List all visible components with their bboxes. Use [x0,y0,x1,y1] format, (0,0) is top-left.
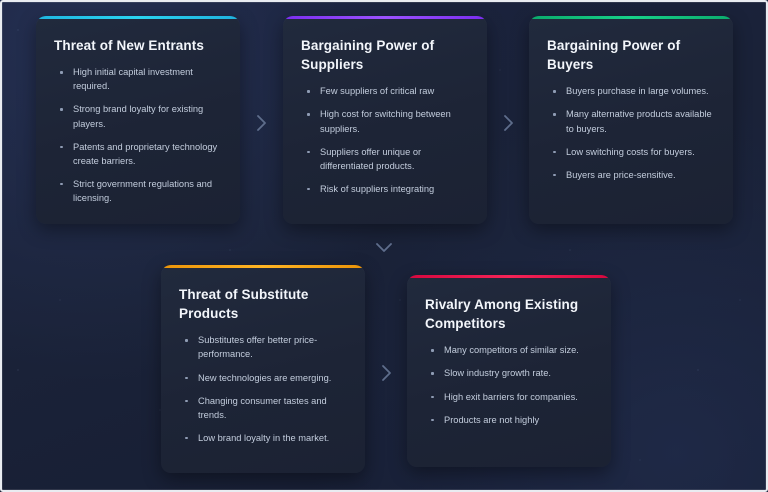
connector-suppliers-to-buyers [487,108,529,138]
list-item: Slow industry growth rate. [431,366,593,380]
list-item: Strong brand loyalty for existing player… [60,102,222,130]
diagram-canvas: Threat of New Entrants High initial capi… [0,0,768,492]
list-item: Buyers purchase in large volumes. [553,84,715,98]
card-accent-bar [161,265,365,268]
list-item: New technologies are emerging. [185,371,347,385]
card-bullet-list: High initial capital investment required… [50,65,224,205]
chevron-down-icon [374,241,394,254]
force-card-bargaining-power-of-suppliers[interactable]: Bargaining Power of Suppliers Few suppli… [283,16,487,224]
card-title: Threat of New Entrants [54,36,224,55]
card-title: Threat of Substitute Products [179,285,349,323]
list-item: Strict government regulations and licens… [60,177,222,205]
list-item: Risk of suppliers integrating [307,182,469,196]
card-accent-bar [283,16,487,19]
card-bullet-list: Buyers purchase in large volumes. Many a… [543,84,717,182]
list-item: High cost for switching between supplier… [307,107,469,135]
list-item: Changing consumer tastes and trends. [185,394,347,422]
list-item: Few suppliers of critical raw [307,84,469,98]
chevron-right-icon [380,363,393,383]
card-accent-bar [407,275,611,278]
chevron-right-icon [502,113,515,133]
card-title: Bargaining Power of Suppliers [301,36,471,74]
connector-entrants-to-suppliers [240,108,282,138]
force-card-rivalry-among-existing-competitors[interactable]: Rivalry Among Existing Competitors Many … [407,275,611,467]
force-card-bargaining-power-of-buyers[interactable]: Bargaining Power of Buyers Buyers purcha… [529,16,733,224]
card-title: Bargaining Power of Buyers [547,36,717,74]
list-item: High exit barriers for companies. [431,390,593,404]
list-item: High initial capital investment required… [60,65,222,93]
chevron-right-icon [255,113,268,133]
card-accent-bar [36,16,240,19]
list-item: Products are not highly [431,413,593,427]
connector-top-row-to-bottom-row [364,236,404,258]
list-item: Low brand loyalty in the market. [185,431,347,445]
list-item: Suppliers offer unique or differentiated… [307,145,469,173]
card-bullet-list: Substitutes offer better price-performan… [175,333,349,445]
list-item: Many competitors of similar size. [431,343,593,357]
card-accent-bar [529,16,733,19]
list-item: Buyers are price-sensitive. [553,168,715,182]
list-item: Patents and proprietary technology creat… [60,140,222,168]
list-item: Many alternative products available to b… [553,107,715,135]
card-bullet-list: Few suppliers of critical raw High cost … [297,84,471,196]
force-card-threat-of-new-entrants[interactable]: Threat of New Entrants High initial capi… [36,16,240,224]
list-item: Low switching costs for buyers. [553,145,715,159]
card-title: Rivalry Among Existing Competitors [425,295,595,333]
list-item: Substitutes offer better price-performan… [185,333,347,361]
connector-substitutes-to-rivalry [365,358,407,388]
force-card-threat-of-substitute-products[interactable]: Threat of Substitute Products Substitute… [161,265,365,473]
card-bullet-list: Many competitors of similar size. Slow i… [421,343,595,427]
